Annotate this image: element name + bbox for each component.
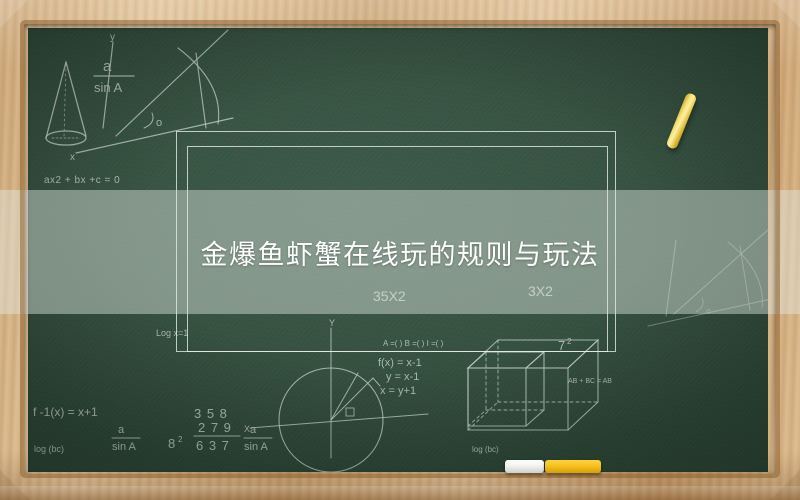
- chalk-axis-y-label: y: [110, 32, 115, 43]
- chalk-cube-right: [468, 340, 598, 430]
- chalk-sum-row2: 2 7 9: [198, 420, 232, 435]
- chalk-log-bc: log (bc): [34, 444, 64, 454]
- chalk-seven-exp: 2: [567, 337, 572, 346]
- chalk-cube-center: [468, 352, 544, 426]
- chalk-fraction-bottom-center: a sin A: [244, 424, 272, 453]
- chalk-sum-row1: 3 5 8: [194, 406, 228, 421]
- frame-miter-top-left: [0, 0, 28, 28]
- chalk-fn-line2: y = x-1: [386, 371, 419, 383]
- banner-image: a sin A ax2 + bx +c = 0 y x o: [0, 0, 800, 500]
- chalk-fn-line3: x = y+1: [380, 385, 416, 397]
- chalk-eight: 8: [168, 436, 175, 451]
- chalk-axis-x-label: x: [70, 152, 75, 163]
- chalk-triangle-relation: AB + BC = AB: [568, 378, 612, 385]
- frame-miter-top-right: [772, 0, 800, 28]
- chalk-angle-label: o: [156, 117, 162, 129]
- chalk-function-equations: f(x) = x-1 y = x-1 x = y+1: [378, 357, 422, 397]
- chalk-fraction-sinA: sin A: [94, 80, 123, 95]
- chalk-circle-diagram: Y X: [244, 318, 428, 472]
- chalk-circle-axis-x: X: [244, 424, 250, 434]
- chalk-sum-row3: 6 3 7: [196, 438, 230, 453]
- chalk-angle-diagram-top-left: y x o: [70, 30, 233, 163]
- chalk-frac2-sin: sin A: [112, 441, 137, 453]
- frame-miter-bottom-right: [770, 470, 800, 500]
- chalk-seven: 7: [558, 338, 565, 353]
- chalk-frac2-a: a: [118, 424, 125, 436]
- chalk-fraction-bottom-left: a sin A: [112, 424, 140, 453]
- chalk-circle-axis-y: Y: [329, 318, 335, 328]
- chalk-fraction-a: a: [103, 58, 112, 75]
- page-title: 金爆鱼虾蟹在线玩的规则与玩法: [0, 190, 800, 314]
- yellow-chalk-icon: [545, 460, 601, 473]
- chalk-eight-exp: 2: [178, 435, 183, 444]
- chalk-log-bc-2: log (bc): [472, 445, 499, 454]
- chalk-fn-line1: f(x) = x-1: [378, 357, 422, 369]
- chalk-frac3-sin: sin A: [244, 441, 269, 453]
- chalk-quadratic: ax2 + bx +c = 0: [44, 175, 120, 186]
- white-chalk-icon: [505, 460, 544, 473]
- chalk-log-label: Log x=1: [156, 328, 188, 338]
- chalk-inverse-fn: f -1(x) = x+1: [33, 405, 98, 419]
- chalk-matrix-note: A =( ) B =( ) I =( ): [383, 339, 444, 348]
- chalk-cone-icon: [46, 62, 86, 145]
- frame-miter-bottom-left: [0, 470, 30, 500]
- chalk-frac3-a: a: [250, 424, 257, 436]
